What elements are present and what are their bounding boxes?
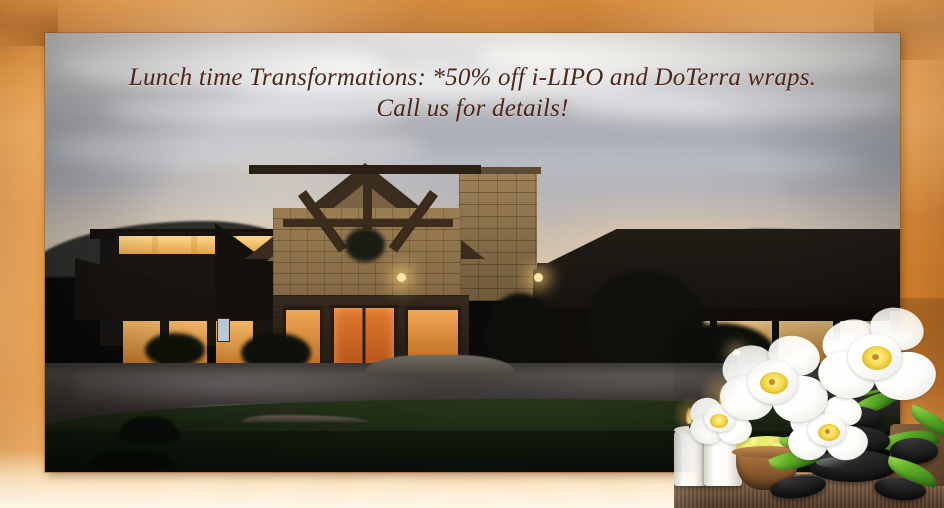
orchid-lip-dot (769, 379, 775, 385)
orchid-lip-dot (825, 429, 830, 434)
promo-headline: Lunch time Transformations: *50% off i-L… (45, 62, 900, 124)
gable-ridge-beam (249, 165, 481, 174)
exterior-lamp (534, 273, 543, 282)
timber-truss-king-post (363, 183, 372, 229)
orchid-lip-dot (872, 354, 879, 360)
promo-banner: Lunch time Transformations: *50% off i-L… (0, 0, 944, 508)
shrub-cluster (145, 333, 205, 367)
background-tree (345, 228, 385, 262)
white-orchid-large (818, 304, 940, 408)
foreground-shrub (91, 451, 171, 472)
foreground-shrub (119, 417, 179, 443)
spa-overlay-mask (674, 298, 944, 508)
exterior-lamp (397, 273, 406, 282)
white-orchid-mid (720, 332, 832, 428)
landscape-island (365, 355, 515, 377)
entrance-sign (217, 318, 230, 342)
spa-still-life-overlay (674, 298, 944, 508)
